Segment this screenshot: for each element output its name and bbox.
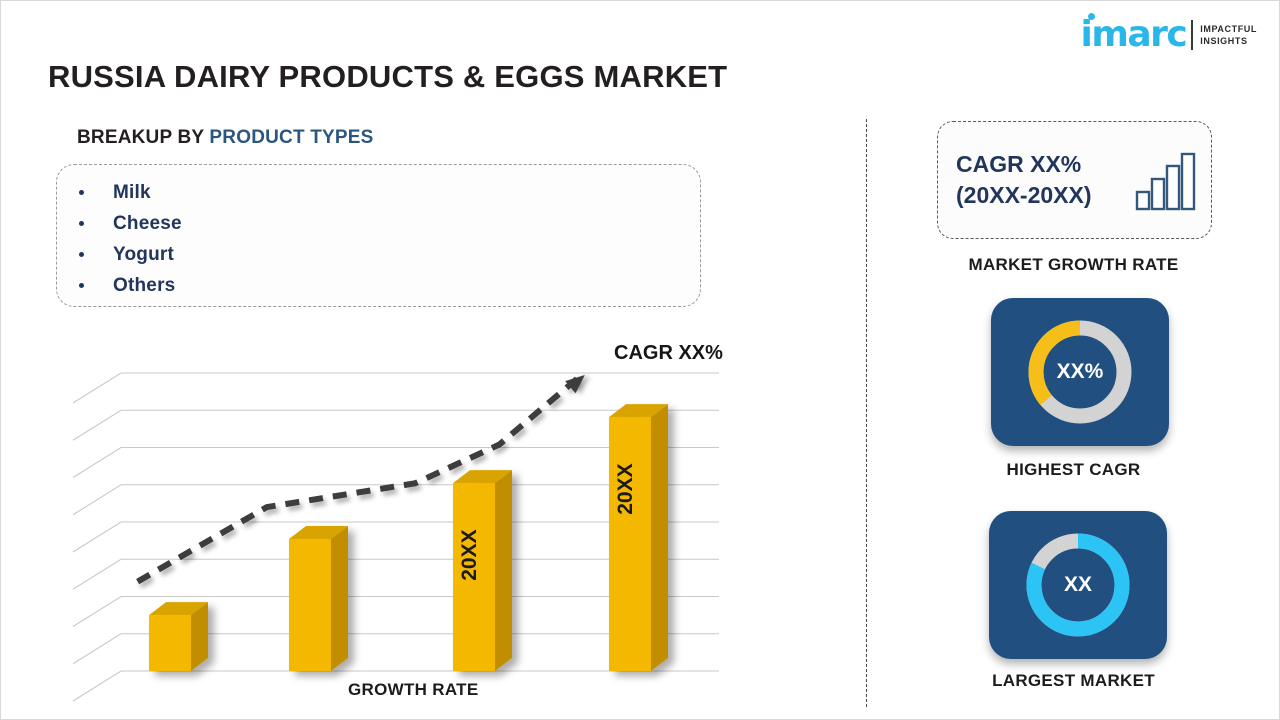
page-title: RUSSIA DAIRY PRODUCTS & EGGS MARKET [48,59,727,95]
logo-dot-icon [1088,13,1095,20]
trend-arrow-icon [138,369,590,582]
bar-side-face [495,470,512,671]
logo-tagline-line1: IMPACTFUL [1200,23,1257,35]
logo-tagline-line2: INSIGHTS [1200,35,1257,47]
bar-side-face [651,404,668,671]
market-growth-rate-caption: MARKET GROWTH RATE [866,255,1280,275]
largest-market-caption: LARGEST MARKET [866,671,1280,691]
largest-market-donut-chart [1019,526,1137,644]
list-item[interactable]: Cheese [57,208,700,239]
product-types-card: Milk Cheese Yogurt Others [56,164,701,307]
list-item[interactable]: Yogurt [57,239,700,270]
cagr-box-line1: CAGR XX% [956,149,1092,180]
gridline [73,373,719,403]
list-item-label: Milk [113,182,151,204]
slide-canvas: imarc IMPACTFUL INSIGHTS RUSSIA DAIRY PR… [0,0,1280,720]
growth-rate-bar-chart: 20XX20XX [61,331,761,706]
logo-wordmark: imarc [1081,17,1187,53]
cagr-box-line2: (20XX-20XX) [956,180,1092,211]
bullet-dot-icon [79,283,84,288]
bar-value-label: 20XX [458,529,481,580]
subtitle-accent: PRODUCT TYPES [209,127,373,148]
highest-cagr-caption: HIGHEST CAGR [866,460,1280,480]
list-item[interactable]: Others [57,270,700,301]
bar-front-face [289,539,331,671]
logo-text: imarc [1081,14,1187,55]
panel-divider [866,119,867,707]
logo-tagline: IMPACTFUL INSIGHTS [1200,23,1257,47]
list-item[interactable]: Milk [57,177,700,208]
bar-chart-svg: 20XX20XX [61,331,761,706]
list-item-label: Others [113,275,175,297]
bar-column [609,404,668,671]
imarc-logo: imarc IMPACTFUL INSIGHTS [1081,15,1257,55]
cagr-box-text: CAGR XX% (20XX-20XX) [956,149,1092,211]
bar-side-face [331,526,348,671]
largest-market-card: XX [989,511,1167,659]
highest-cagr-card: XX% [991,298,1169,446]
bar-front-face [609,417,651,671]
list-item-label: Yogurt [113,244,174,266]
bar-column [289,526,348,671]
bullet-dot-icon [79,252,84,257]
market-growth-rate-box: CAGR XX% (20XX-20XX) [937,121,1212,239]
bar-chart-icon [1135,152,1197,212]
logo-divider [1191,20,1193,50]
product-types-list: Milk Cheese Yogurt Others [57,165,700,301]
chart-bars: 20XX20XX [149,404,668,671]
bullet-dot-icon [79,221,84,226]
bar-front-face [149,615,191,671]
subtitle-prefix: BREAKUP BY [77,127,209,148]
bullet-dot-icon [79,190,84,195]
bar-column [149,602,208,671]
list-item-label: Cheese [113,213,182,235]
bar-value-label: 20XX [614,463,637,514]
breakup-subtitle: BREAKUP BY PRODUCT TYPES [77,127,374,149]
chart-axis-label: GROWTH RATE [348,680,478,700]
highest-cagr-donut-chart [1021,313,1139,431]
chart-cagr-callout: CAGR XX% [614,342,723,365]
